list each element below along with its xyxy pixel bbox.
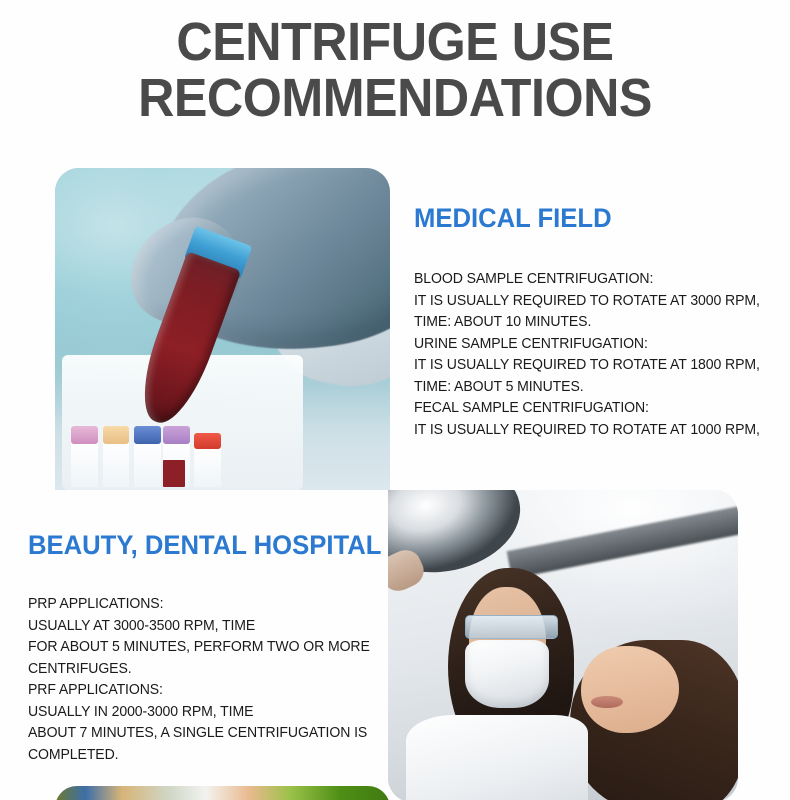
page-title-line-2: RECOMMENDATIONS <box>28 70 763 126</box>
body-line: URINE SAMPLE CENTRIFUGATION: <box>414 334 783 356</box>
body-line: IT IS USUALLY REQUIRED TO ROTATE AT 3000… <box>414 291 783 313</box>
bottom-strip-photo <box>55 786 390 800</box>
sample-tube <box>134 441 161 487</box>
sample-tube <box>103 441 130 487</box>
blood-sample-photo <box>55 168 390 490</box>
body-line: BLOOD SAMPLE CENTRIFUGATION: <box>414 269 783 291</box>
body-line: PRF APPLICATIONS: <box>28 680 387 702</box>
body-line: FECAL SAMPLE CENTRIFUGATION: <box>414 398 783 420</box>
dentist-scrubs <box>406 715 588 800</box>
body-line: TIME: ABOUT 5 MINUTES. <box>414 377 783 399</box>
body-line: USUALLY IN 2000-3000 RPM, TIME <box>28 702 387 724</box>
body-line: CENTRIFUGES. <box>28 659 387 681</box>
section-body-beauty-dental-hospital: PRP APPLICATIONS: USUALLY AT 3000-3500 R… <box>28 594 387 766</box>
patient-lips <box>591 696 623 708</box>
body-line: IT IS USUALLY REQUIRED TO ROTATE AT 1000… <box>414 420 783 442</box>
body-line: TIME: ABOUT 10 MINUTES. <box>414 312 783 334</box>
patient-face <box>581 646 679 733</box>
sample-tube-blood <box>163 460 185 487</box>
body-line: FOR ABOUT 5 MINUTES, PERFORM TWO OR MORE <box>28 637 387 659</box>
section-body-medical-field: BLOOD SAMPLE CENTRIFUGATION: IT IS USUAL… <box>414 269 783 441</box>
section-heading-beauty-dental-hospital: BEAUTY, DENTAL HOSPITAL <box>28 530 381 561</box>
dental-clinic-photo <box>388 490 738 800</box>
body-line: ABOUT 7 MINUTES, A SINGLE CENTRIFUGATION… <box>28 723 387 745</box>
safety-goggles <box>465 615 558 639</box>
body-line: USUALLY AT 3000-3500 RPM, TIME <box>28 616 387 638</box>
sample-tube <box>194 447 221 488</box>
face-mask <box>465 640 549 709</box>
page-title: CENTRIFUGE USE RECOMMENDATIONS <box>28 14 763 126</box>
poster-page: CENTRIFUGE USE RECOMMENDATIONS MEDICAL F… <box>0 0 790 800</box>
page-title-line-1: CENTRIFUGE USE <box>28 14 763 70</box>
body-line: PRP APPLICATIONS: <box>28 594 387 616</box>
body-line: IT IS USUALLY REQUIRED TO ROTATE AT 1800… <box>414 355 783 377</box>
body-line: COMPLETED. <box>28 745 387 767</box>
section-heading-medical-field: MEDICAL FIELD <box>414 203 612 234</box>
sample-tube <box>71 441 98 487</box>
